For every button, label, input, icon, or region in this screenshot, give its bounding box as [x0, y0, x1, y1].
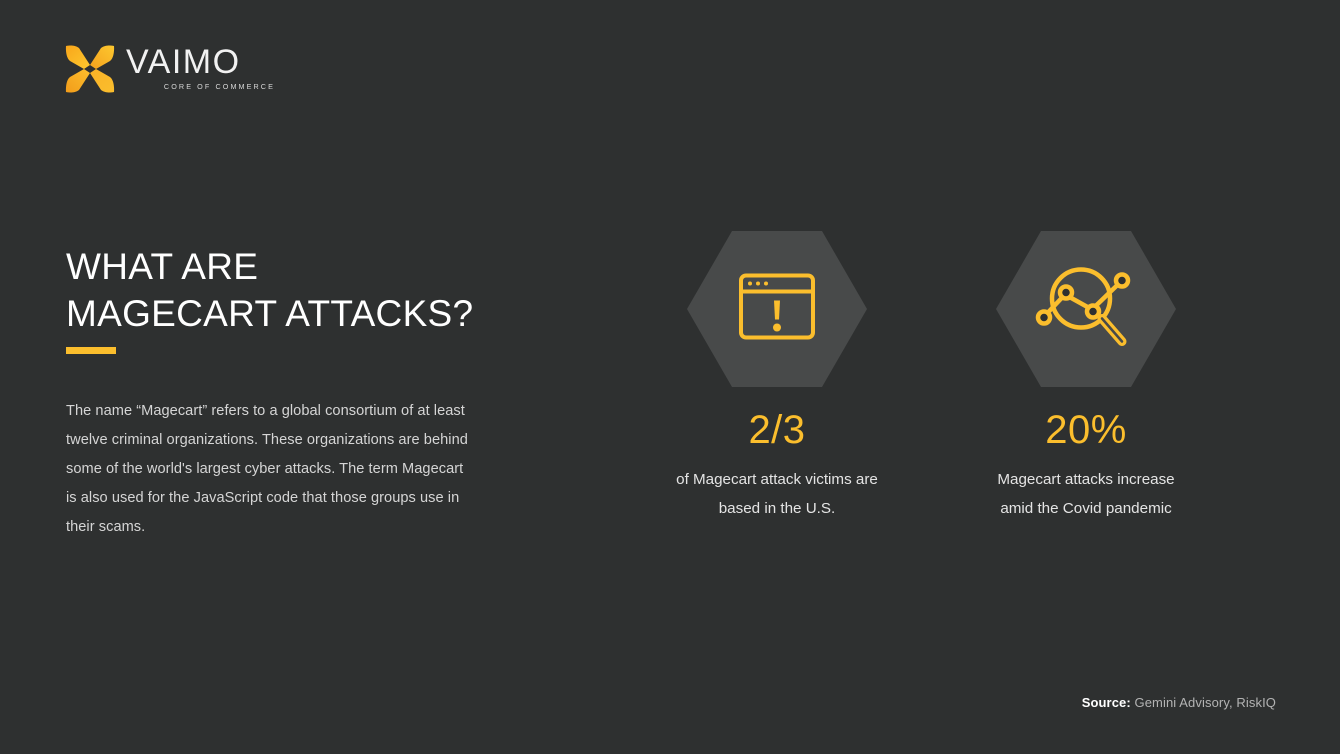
stat-value: 20% — [955, 408, 1217, 452]
browser-alert-icon — [738, 273, 816, 346]
vaimo-x-mark-icon — [64, 43, 116, 95]
vaimo-logo: VAIMO CORE OF COMMERCE — [64, 41, 274, 97]
source-value: Gemini Advisory, RiskIQ — [1135, 695, 1276, 710]
stat-value: 2/3 — [646, 408, 908, 452]
magnifier-chart-icon — [1034, 257, 1138, 362]
accent-divider — [66, 347, 116, 354]
source-credit: Source: Gemini Advisory, RiskIQ — [1082, 695, 1276, 710]
hexagon-badge — [996, 231, 1176, 387]
logo-tagline: CORE OF COMMERCE — [126, 82, 276, 91]
hexagon-badge — [687, 231, 867, 387]
stat-label: of Magecart attack victims are based in … — [646, 465, 908, 523]
stat-label-line-2: based in the U.S. — [646, 494, 908, 523]
body-paragraph: The name “Magecart” refers to a global c… — [66, 397, 476, 543]
source-label: Source: — [1082, 695, 1131, 710]
stat-label: Magecart attacks increase amid the Covid… — [955, 465, 1217, 523]
logo-name: VAIMO — [126, 45, 276, 79]
stat-group: 2/3 of Magecart attack victims are based… — [646, 231, 1246, 531]
stat-card-magnifier-chart: 20% Magecart attacks increase amid the C… — [955, 231, 1217, 523]
vaimo-wordmark: VAIMO CORE OF COMMERCE — [126, 45, 276, 91]
stat-card-browser-alert: 2/3 of Magecart attack victims are based… — [646, 231, 908, 523]
stat-label-line-1: of Magecart attack victims are — [646, 465, 908, 494]
page-title-line-2: MAGECART ATTACKS? — [66, 290, 586, 337]
page-title: WHAT ARE MAGECART ATTACKS? — [66, 243, 586, 337]
page-title-line-1: WHAT ARE — [66, 243, 586, 290]
slide-canvas: VAIMO CORE OF COMMERCE WHAT ARE MAGECART… — [0, 0, 1340, 754]
stat-label-line-2: amid the Covid pandemic — [955, 494, 1217, 523]
stat-label-line-1: Magecart attacks increase — [955, 465, 1217, 494]
